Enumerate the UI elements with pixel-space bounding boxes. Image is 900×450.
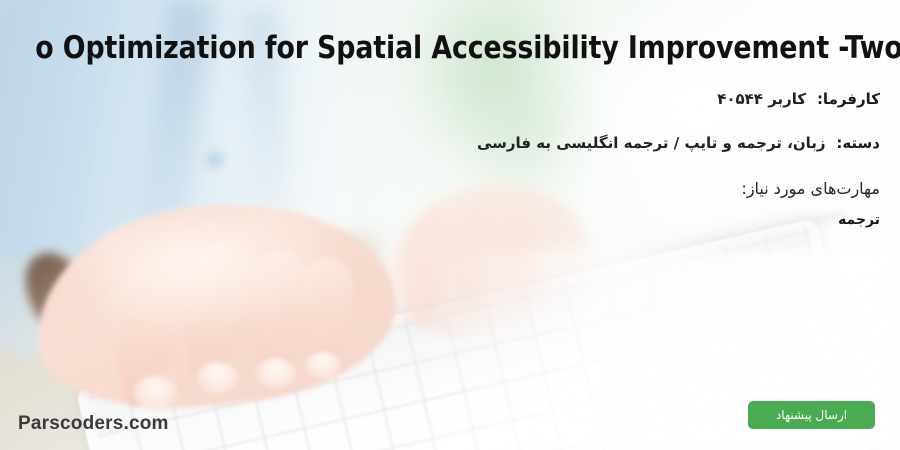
skills-row: مهارت‌های مورد نیاز: ترجمه — [120, 178, 880, 231]
category-value: زبان، ترجمه و تایپ / ترجمه انگلیسی به فا… — [477, 134, 832, 152]
banner-content: o Optimization for Spatial Accessibility… — [0, 0, 900, 450]
category-label: دسته: — [836, 134, 880, 152]
project-meta-block: کارفرما: کاربر ۴۰۵۴۴ دسته: زبان، ترجمه و… — [120, 88, 880, 231]
project-banner: o Optimization for Spatial Accessibility… — [0, 0, 900, 450]
skills-value: ترجمه — [120, 209, 880, 231]
parscoders-watermark: Parscoders.com — [18, 413, 169, 435]
submit-proposal-button[interactable]: ارسال پیشنهاد — [748, 401, 875, 429]
employer-row: کارفرما: کاربر ۴۰۵۴۴ — [120, 88, 880, 110]
skills-label: مهارت‌های مورد نیاز: — [120, 178, 880, 200]
project-title: o Optimization for Spatial Accessibility… — [35, 29, 882, 67]
employer-label: کارفرما: — [817, 90, 880, 108]
employer-value: کاربر ۴۰۵۴۴ — [717, 90, 812, 108]
category-row: دسته: زبان، ترجمه و تایپ / ترجمه انگلیسی… — [120, 132, 880, 154]
